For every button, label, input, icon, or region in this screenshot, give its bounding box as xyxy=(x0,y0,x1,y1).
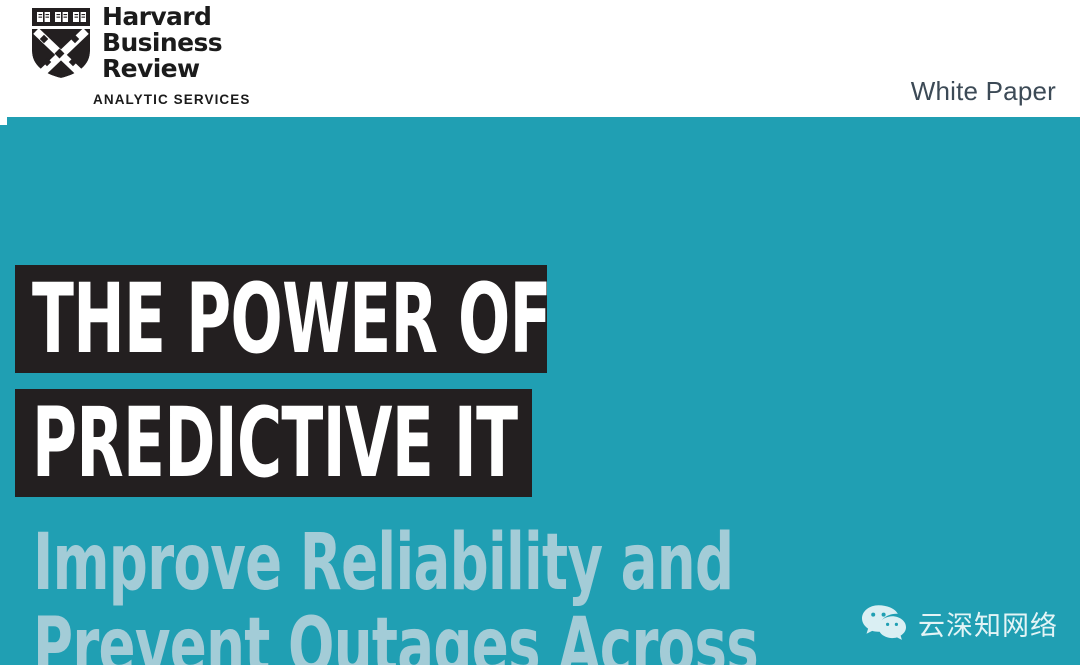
title-bar-line-2: PREDICTIVE IT xyxy=(15,389,532,497)
document-type-label: White Paper xyxy=(911,76,1056,107)
publisher-logo: Harvard Business Review ANALYTIC SERVICE… xyxy=(30,4,260,112)
wechat-icon xyxy=(861,603,907,643)
title-text-line-1: THE POWER OF xyxy=(32,271,551,367)
publisher-tagline: ANALYTIC SERVICES xyxy=(93,92,250,107)
cover-corner-notch xyxy=(0,117,7,125)
white-paper-cover-page: Harvard Business Review ANALYTIC SERVICE… xyxy=(0,0,1080,665)
wechat-watermark: 云深知网络 xyxy=(861,603,1058,643)
title-text-line-2: PREDICTIVE IT xyxy=(32,395,517,491)
title-bar-line-1: THE POWER OF xyxy=(15,265,547,373)
cover-subtitle: Improve Reliability and Prevent Outages … xyxy=(33,521,833,665)
wordmark-line-2: Business xyxy=(102,30,282,56)
wechat-handle-label: 云深知网络 xyxy=(918,604,1058,643)
subtitle-line-2: Prevent Outages Across xyxy=(33,605,593,665)
cover-panel: THE POWER OF PREDICTIVE IT Improve Relia… xyxy=(0,117,1080,665)
page-header: Harvard Business Review ANALYTIC SERVICE… xyxy=(0,0,1080,117)
publisher-wordmark: Harvard Business Review xyxy=(102,4,282,82)
wordmark-line-3: Review xyxy=(102,56,282,82)
harvard-shield-icon xyxy=(30,7,92,79)
wordmark-line-1: Harvard xyxy=(102,4,282,30)
subtitle-line-1: Improve Reliability and xyxy=(33,521,593,605)
